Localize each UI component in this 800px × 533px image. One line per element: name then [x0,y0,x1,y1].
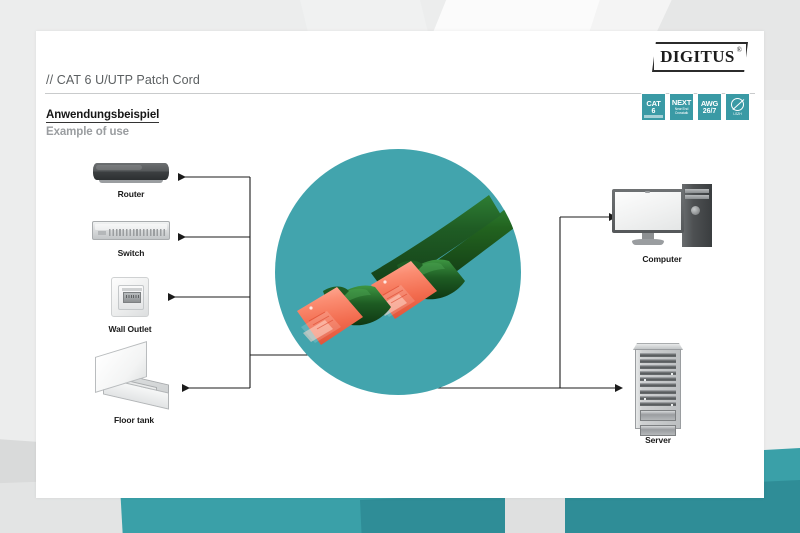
server-body [635,349,681,429]
no-smoke-icon [731,98,744,111]
device-wall-outlet[interactable]: Wall Outlet [111,277,149,317]
cat6-badge-underbar [644,115,663,118]
computer-tower [682,184,712,247]
application-diagram: Router Switch Wall Outlet [36,141,764,491]
logo-registered-mark: ® [737,46,742,54]
awg-badge-line2: 26/7 [703,108,717,115]
computer-monitor [612,189,684,233]
digitus-logo: DIGITUS ® [652,42,748,72]
server-label: Server [598,435,718,445]
next-badge: NEXT Near End Crosstalk [669,93,694,121]
server-slot [640,377,676,381]
page-background: DIGITUS ® // CAT 6 U/UTP Patch Cord Anwe… [0,0,800,533]
server-slot [640,402,676,406]
device-server[interactable]: Server [633,343,683,431]
cat6-badge: CAT 6 [641,93,666,121]
server-slot [640,353,676,357]
server-slot [640,371,676,375]
switch-icon [92,221,170,240]
lszh-badge: LSZH [725,93,750,121]
computer-power-button [691,206,700,215]
page-title: // CAT 6 U/UTP Patch Cord [46,73,200,87]
server-slot [640,359,676,363]
wall-outlet-jack [123,292,141,303]
server-slot [640,365,676,369]
floor-tank-label: Floor tank [74,415,194,425]
device-computer[interactable]: Computer [612,184,712,250]
cat6-badge-line2: 6 [652,108,656,115]
heading-english: Example of use [46,126,129,138]
server-slot [640,383,676,387]
server-drive-bay-1 [640,410,676,421]
wall-outlet-label: Wall Outlet [70,324,190,334]
computer-stand-base [632,239,664,245]
switch-led [98,231,106,235]
heading-german: Anwendungsbeispiel [46,109,159,123]
device-router[interactable]: Router [93,163,169,180]
router-foot [99,180,163,183]
computer-webcam [645,191,650,193]
computer-icon [612,184,712,250]
device-floor-tank[interactable]: Floor tank [93,349,175,411]
computer-screen [615,192,681,230]
router-icon [93,163,169,180]
computer-tower-bay-1 [685,189,709,193]
server-slot [640,396,676,400]
server-icon [633,343,683,431]
wall-outlet-inner [118,285,144,310]
router-label: Router [71,189,191,199]
computer-label: Computer [602,254,722,264]
next-badge-line3: Near End Crosstalk [670,107,693,115]
next-badge-line1: NEXT [672,99,691,107]
awg-badge: AWG 26/7 [697,93,722,121]
floor-tank-icon [93,349,175,411]
device-switch[interactable]: Switch [92,221,170,240]
lszh-badge-line3: LSZH [733,112,741,116]
computer-tower-bay-2 [685,195,709,199]
content-card: DIGITUS ® // CAT 6 U/UTP Patch Cord Anwe… [36,31,764,498]
wall-outlet-slot [122,288,142,291]
switch-ports [109,229,165,236]
patch-cord-illustration [275,149,521,395]
logo-text: DIGITUS [652,42,748,72]
server-slot [640,390,676,394]
hero-circle [275,149,521,395]
certification-badges: CAT 6 NEXT Near End Crosstalk AWG 26/7 L… [641,93,750,121]
wall-outlet-icon [111,277,149,317]
switch-label: Switch [71,248,191,258]
cat6-badge-line1: CAT [646,100,660,108]
awg-badge-line1: AWG [701,100,718,108]
